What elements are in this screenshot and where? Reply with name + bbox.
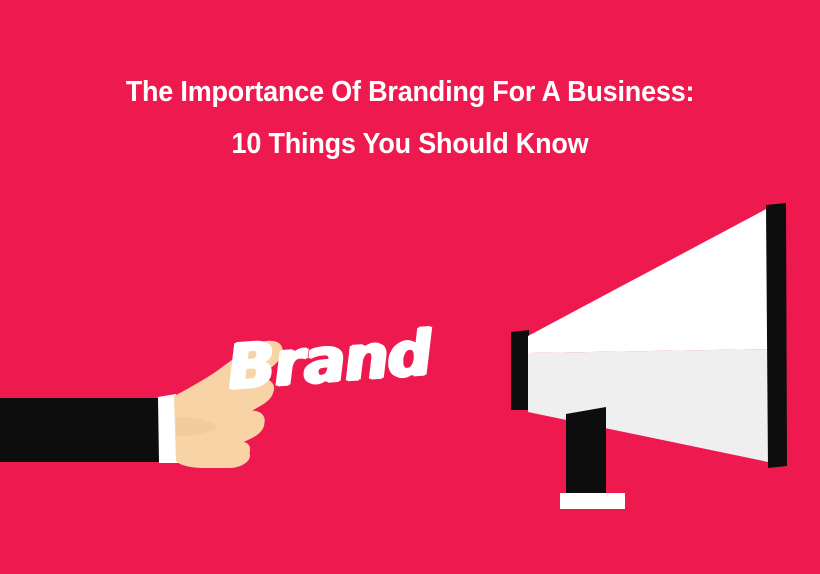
megaphone-handle	[566, 407, 606, 495]
megaphone-cone-lower	[528, 349, 773, 463]
brand-megaphone-illustration	[0, 0, 820, 574]
brand-word-text: Brand	[226, 322, 433, 399]
suit-sleeve	[0, 398, 160, 462]
megaphone-bell-rim	[766, 203, 787, 468]
megaphone-cone-upper	[528, 207, 772, 353]
megaphone-base	[560, 493, 625, 509]
poster-canvas: The Importance Of Branding For A Busines…	[0, 0, 820, 574]
megaphone-neck-bar	[511, 330, 529, 410]
